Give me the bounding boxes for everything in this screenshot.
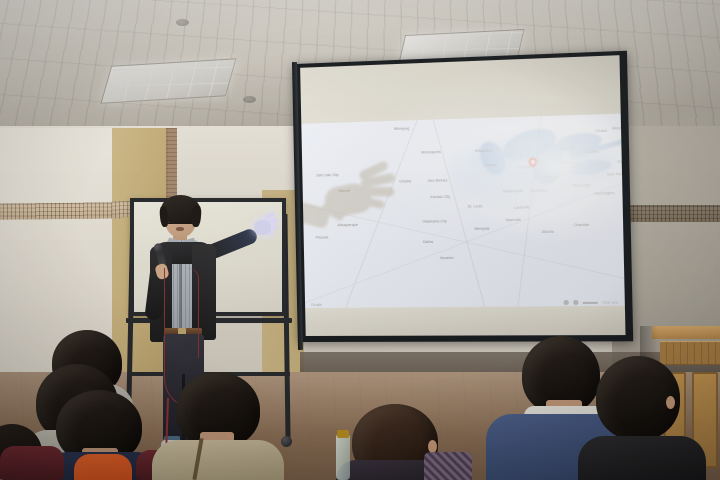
map-label: Cleveland [543,175,560,180]
map-label: Toronto [561,146,574,151]
torso-shirt [74,454,132,480]
map-label: Des Moines [428,178,448,183]
zoom-in-icon[interactable] [573,300,578,305]
water-bottle[interactable] [336,434,350,480]
patterned-top [424,452,472,480]
map-label: Atlanta [542,230,554,235]
chair-back [0,446,64,480]
map-label: Houston [440,256,454,261]
ear [666,396,675,409]
palm [254,220,271,235]
presenter-mouth [176,227,184,231]
map-label: Columbus [530,188,547,193]
map-label: Kansas City [430,195,450,200]
presenter-right-hand [250,214,277,236]
map-label: Ottawa [595,129,607,134]
map-label: Hamilton [557,161,572,166]
map-label: Indianapolis [503,189,523,194]
screen-surface: Detroit Toronto Hamilton Cleveland Chica… [300,55,625,336]
map-ui-controls[interactable]: 200 km [564,300,619,306]
photo-scene: Detroit Toronto Hamilton Cleveland Chica… [0,0,720,480]
map-label: Winnipeg [394,126,409,131]
map-label: Phoenix [316,235,329,239]
map-label: Pittsburgh [573,183,591,188]
map-label: Minneapolis [421,150,441,155]
screen-bottom-margin [305,306,625,336]
projection-screen: Detroit Toronto Hamilton Cleveland Chica… [293,51,633,342]
map-label: Buffalo [587,150,599,155]
map-label: Chicago [484,163,498,168]
map-label: Memphis [474,227,489,232]
map-label: Detroit [519,165,530,170]
map-label: Oklahoma City [423,219,447,224]
map-label: Dallas [423,240,433,244]
map-label: Nashville [506,218,522,223]
microphone-cable [188,268,199,358]
bottle-cap [337,430,349,438]
podium-top-surface [652,326,720,339]
pegman-icon[interactable] [564,300,569,305]
map-scale-label: 200 km [602,300,618,305]
map-attribution: Google [311,303,322,307]
scale-bar [583,301,598,303]
hand-shadow-on-screen [306,157,404,230]
podium-molding [660,341,720,365]
map-label: Washington [594,191,614,196]
map-label: New York [607,172,623,177]
torso [578,436,706,480]
map-label: St. Louis [468,204,483,209]
map-label: Louisville [514,205,530,210]
mosaic-tile-band-left [0,202,120,219]
presenter-hair-side [191,205,202,228]
map-label: Milwaukee [475,149,493,154]
map-label: Charlotte [574,223,590,228]
finger-shadow [361,187,395,197]
torso-jacket [152,440,284,480]
